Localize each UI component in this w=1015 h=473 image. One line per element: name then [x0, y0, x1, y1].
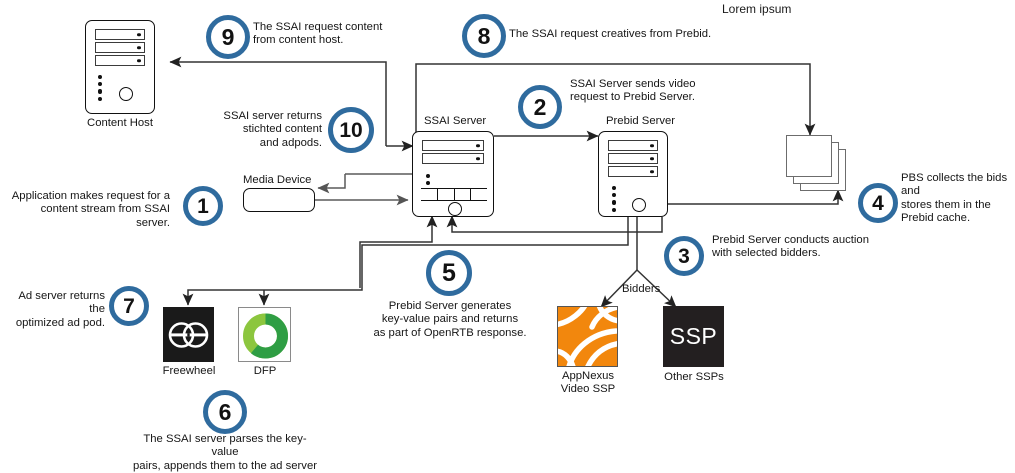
step-10-caption: SSAI server returns stichted content and… — [190, 110, 322, 150]
node-label-appnexus-line2: Video SSP — [542, 383, 634, 396]
expansion-slots-icon — [421, 188, 487, 201]
step-1-caption: Application makes request for a content … — [10, 190, 170, 230]
led-indicator-icon — [137, 46, 141, 50]
step-badge-10[interactable]: 10 — [328, 107, 374, 153]
step-6-line2: pairs, appends them to the ad server — [130, 460, 320, 473]
drive-bay — [95, 29, 145, 40]
drive-bays — [422, 140, 484, 166]
step-6-line1: The SSAI server parses the key-value — [130, 433, 320, 460]
node-label-dfp: DFP — [234, 365, 296, 378]
drive-bay — [95, 55, 145, 66]
step-badge-6[interactable]: 6 — [203, 390, 247, 434]
step-1-line1: Application makes request for a — [10, 190, 170, 203]
step-4-caption: PBS collects the bids and stores them in… — [901, 172, 1015, 226]
step-2-caption: SSAI Server sends video request to Prebi… — [570, 78, 770, 105]
led-indicator-icon — [650, 144, 654, 148]
step-10-line3: and adpods. — [190, 137, 322, 150]
status-dots-icon — [426, 174, 430, 188]
step-3-caption: Prebid Server conducts auction with sele… — [712, 234, 912, 261]
node-prebid-cache[interactable] — [786, 135, 858, 191]
step-9-line2: from content host. — [253, 34, 433, 47]
node-label-other-ssps: Other SSPs — [658, 371, 730, 384]
status-dots-icon — [612, 186, 616, 215]
step-badge-9[interactable]: 9 — [206, 15, 250, 59]
step-10-line2: stichted content — [190, 123, 322, 136]
step-3-line1: Prebid Server conducts auction — [712, 234, 912, 247]
node-freewheel[interactable] — [163, 307, 214, 362]
step-5-line1: Prebid Server generates — [365, 300, 535, 313]
step-7-line2: optimized ad pod. — [0, 317, 105, 330]
led-indicator-icon — [476, 157, 480, 161]
step-badge-8[interactable]: 8 — [462, 14, 506, 58]
drive-bays — [95, 29, 145, 68]
led-indicator-icon — [137, 59, 141, 63]
step-4-line1: PBS collects the bids and — [901, 172, 1015, 199]
node-appnexus[interactable] — [557, 306, 618, 367]
step-3-line2: with selected bidders. — [712, 247, 912, 260]
node-media-device[interactable] — [243, 188, 315, 212]
drive-bay — [608, 140, 658, 151]
step-8-caption: The SSAI request creatives from Prebid. — [509, 28, 769, 41]
status-dots-icon — [98, 75, 102, 104]
ssp-logo-icon: SSP — [670, 323, 718, 350]
node-label-ssai-server: SSAI Server — [424, 115, 486, 128]
drive-bays — [608, 140, 658, 179]
step-1-line2: content stream from SSAI server. — [10, 203, 170, 230]
step-badge-5[interactable]: 5 — [426, 250, 472, 296]
step-5-caption: Prebid Server generates key-value pairs … — [365, 300, 535, 340]
step-6-caption: The SSAI server parses the key-value pai… — [130, 433, 320, 473]
edge-label-bidders: Bidders — [622, 283, 660, 296]
power-button-icon[interactable] — [632, 198, 646, 212]
node-dfp[interactable] — [238, 307, 291, 362]
step-2-line1: SSAI Server sends video — [570, 78, 770, 91]
page-title: Lorem ipsum — [722, 2, 791, 16]
power-button-icon[interactable] — [119, 87, 133, 101]
dfp-logo-icon — [239, 308, 291, 362]
drive-bay — [608, 153, 658, 164]
drive-bay — [422, 153, 484, 164]
node-content-host[interactable] — [85, 20, 155, 114]
step-7-caption: Ad server returns the optimized ad pod. — [0, 290, 105, 330]
node-prebid-server[interactable] — [598, 131, 668, 217]
diagram-canvas: Lorem ipsum Content Host Media Device SS… — [0, 0, 1015, 473]
appnexus-logo-icon — [558, 307, 618, 367]
wire-prebid-to-ssai-bottom — [452, 216, 662, 232]
step-9-line1: The SSAI request content — [253, 21, 433, 34]
step-badge-3[interactable]: 3 — [664, 236, 704, 276]
led-indicator-icon — [650, 157, 654, 161]
step-5-line2: key-value pairs and returns — [365, 313, 535, 326]
step-badge-2[interactable]: 2 — [518, 85, 562, 129]
led-indicator-icon — [650, 170, 654, 174]
node-label-appnexus-line1: AppNexus — [542, 370, 634, 383]
wire-ssai-to-media-device — [318, 174, 345, 188]
step-9-caption: The SSAI request content from content ho… — [253, 21, 433, 48]
wire-adserver-to-ssai-bottom — [360, 216, 432, 288]
led-indicator-icon — [476, 144, 480, 148]
drive-bay — [95, 42, 145, 53]
step-4-line2: stores them in the — [901, 199, 1015, 212]
step-badge-1[interactable]: 1 — [183, 186, 223, 226]
freewheel-logo-icon — [163, 307, 214, 362]
drive-bay — [608, 166, 658, 177]
step-2-line2: request to Prebid Server. — [570, 91, 770, 104]
step-badge-4[interactable]: 4 — [858, 183, 898, 223]
node-label-prebid-server: Prebid Server — [606, 115, 675, 128]
node-label-media-device: Media Device — [243, 174, 311, 187]
step-10-line1: SSAI server returns — [190, 110, 322, 123]
step-7-line1: Ad server returns the — [0, 290, 105, 317]
wire-ssai-to-freewheel — [188, 217, 628, 305]
node-other-ssps[interactable]: SSP — [663, 306, 724, 367]
power-button-icon[interactable] — [448, 202, 462, 216]
node-label-freewheel: Freewheel — [155, 365, 223, 378]
node-label-content-host: Content Host — [85, 117, 155, 130]
wire-prebid-to-cache — [668, 190, 838, 204]
step-8-line1: The SSAI request creatives from Prebid. — [509, 28, 769, 41]
cache-sheet-front — [786, 135, 832, 177]
led-indicator-icon — [137, 33, 141, 37]
drive-bay — [422, 140, 484, 151]
node-ssai-server[interactable] — [412, 131, 494, 217]
step-5-line3: as part of OpenRTB response. — [365, 327, 535, 340]
step-4-line3: Prebid cache. — [901, 212, 1015, 225]
step-badge-7[interactable]: 7 — [109, 286, 149, 326]
